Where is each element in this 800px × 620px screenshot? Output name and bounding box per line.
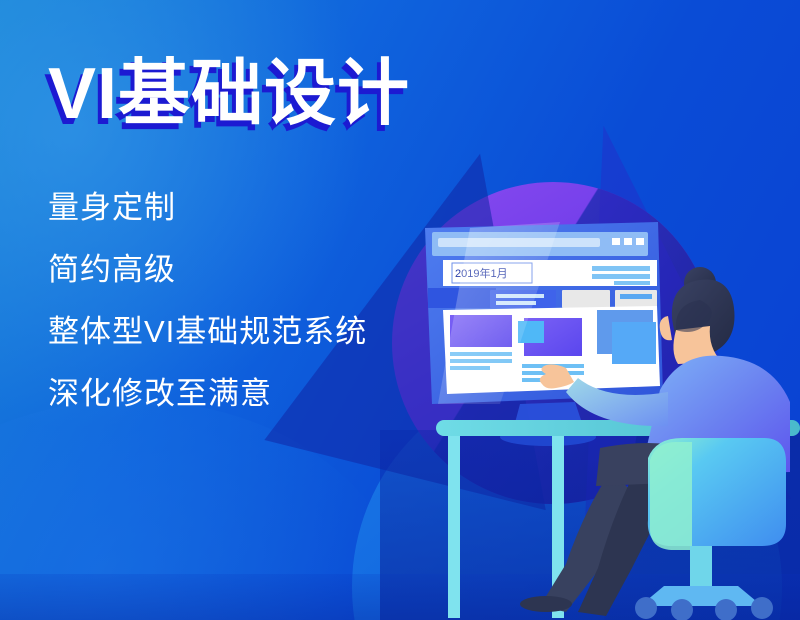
ear [660, 316, 672, 340]
feature-list: 量身定制 简约高级 整体型VI基础规范系统 深化修改至满意 [48, 192, 367, 440]
vi-design-banner: 2019年1月 [0, 0, 800, 620]
toolbar-btn-3-line [620, 294, 652, 299]
chair-caster-3 [715, 599, 737, 620]
list-item: 深化修改至满意 [48, 378, 367, 409]
chair-caster-1 [635, 597, 657, 619]
desk-leg-left [448, 436, 460, 618]
list-item: 简约高级 [48, 254, 367, 285]
header-line-2 [592, 274, 650, 279]
chair-base [640, 586, 762, 606]
header-line-3 [614, 281, 650, 285]
page-title: VI基础设计 [48, 58, 410, 130]
office-chair [635, 438, 786, 620]
toolbar-btn-2[interactable] [562, 290, 610, 308]
window-dots-icon [612, 238, 644, 245]
list-item: 量身定制 [48, 192, 367, 223]
chair-caster-2 [671, 599, 693, 620]
chair-back-edge [650, 442, 692, 550]
shoe [520, 596, 572, 612]
chair-caster-4 [751, 597, 773, 619]
list-item: 整体型VI基础规范系统 [48, 316, 367, 347]
header-line-1 [592, 266, 650, 271]
chair-post [690, 546, 712, 588]
